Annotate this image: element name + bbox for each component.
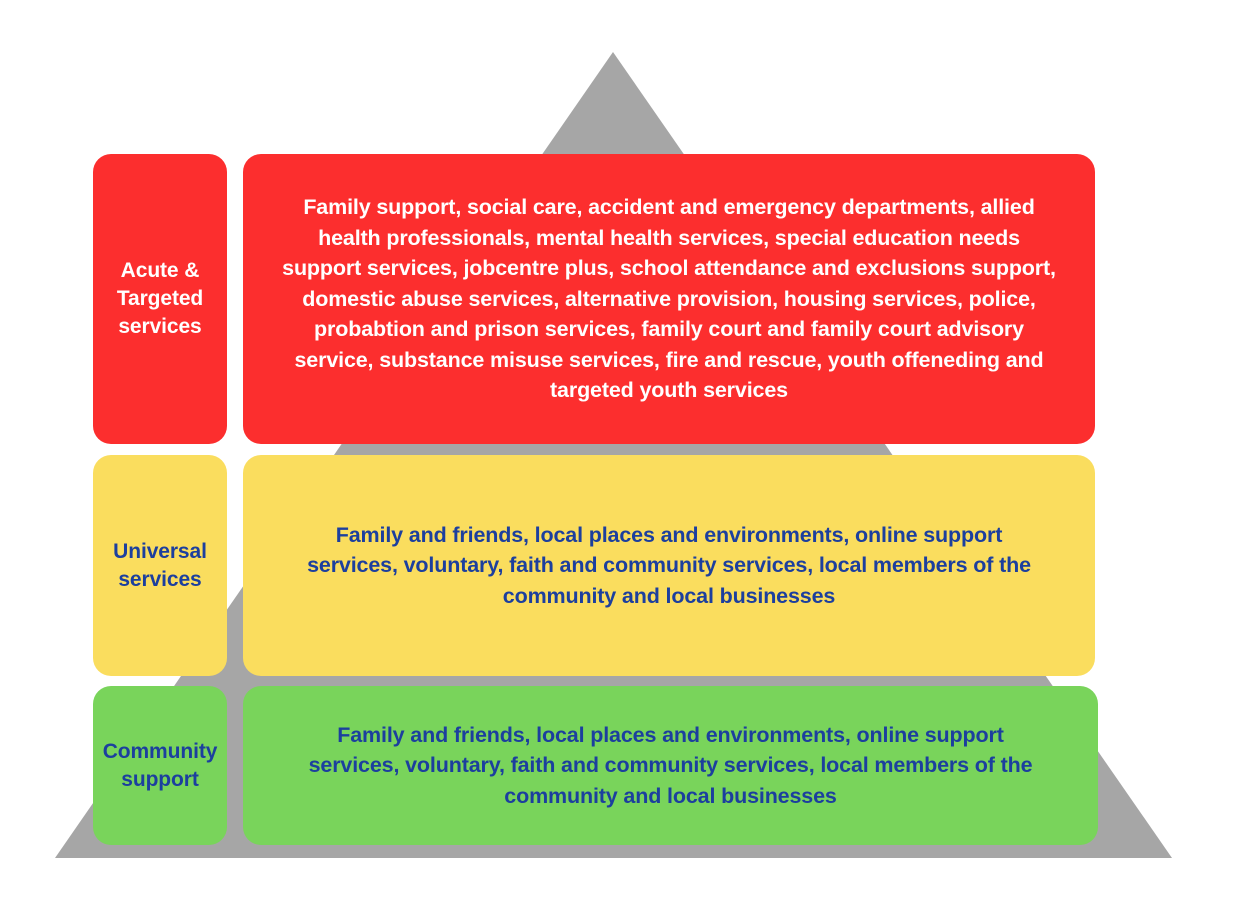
tier-label-community-text: Community support [101,738,219,793]
tier-body-universal[interactable]: Family and friends, local places and env… [243,455,1095,676]
tier-body-acute-text: Family support, social care, accident an… [277,192,1061,406]
tier-label-universal-text: Universal services [101,538,219,593]
tier-label-acute[interactable]: Acute & Targeted services [93,154,227,444]
diagram-canvas: Acute & Targeted services Family support… [0,0,1258,914]
tier-label-community[interactable]: Community support [93,686,227,845]
tier-body-universal-text: Family and friends, local places and env… [297,520,1041,612]
tier-body-community-text: Family and friends, local places and env… [303,720,1038,812]
tier-row-universal: Universal services Family and friends, l… [93,455,1095,676]
tier-body-acute[interactable]: Family support, social care, accident an… [243,154,1095,444]
tier-label-universal[interactable]: Universal services [93,455,227,676]
tier-label-acute-text: Acute & Targeted services [101,257,219,340]
tier-row-community: Community support Family and friends, lo… [93,686,1098,845]
tier-row-acute: Acute & Targeted services Family support… [93,154,1095,444]
tier-body-community[interactable]: Family and friends, local places and env… [243,686,1098,845]
